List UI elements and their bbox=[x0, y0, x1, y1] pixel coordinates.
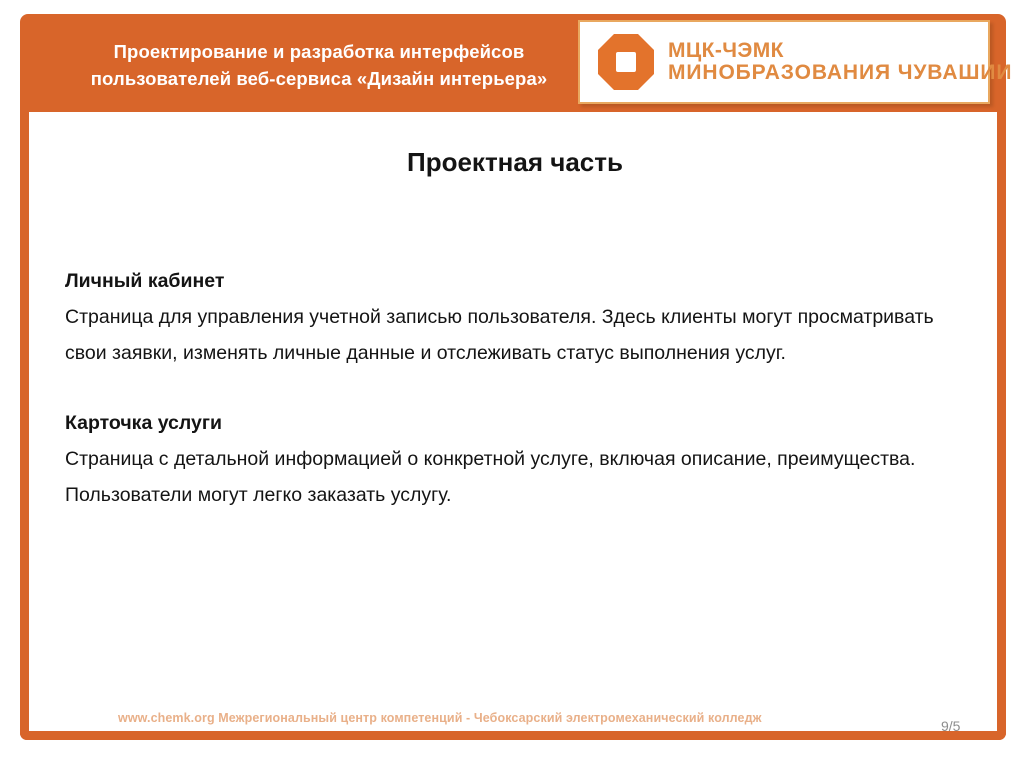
page-number: 9/5 bbox=[941, 718, 960, 734]
logo-line-2: МИНОБРАЗОВАНИЯ ЧУВАШИИ bbox=[668, 62, 1012, 84]
section-title: Личный кабинет bbox=[65, 263, 970, 299]
footer-credit: www.chemk.org Межрегиональный центр комп… bbox=[118, 711, 762, 725]
frame-right-rail bbox=[997, 30, 1006, 740]
section-personal-account: Личный кабинет Страница для управления у… bbox=[65, 263, 970, 371]
section-title: Карточка услуги bbox=[65, 405, 970, 441]
frame-bottom-rail bbox=[20, 731, 1006, 740]
logo-wordmark: МЦК-ЧЭМК МИНОБРАЗОВАНИЯ ЧУВАШИИ bbox=[668, 40, 1012, 85]
content-body: Личный кабинет Страница для управления у… bbox=[65, 263, 970, 513]
page-title: Проектная часть bbox=[65, 147, 965, 178]
section-service-card: Карточка услуги Страница с детальной инф… bbox=[65, 405, 970, 513]
header-title: Проектирование и разработка интерфейсов … bbox=[54, 38, 584, 92]
section-paragraph: Страница с детальной информацией о конкр… bbox=[65, 441, 970, 513]
logo-line-1: МЦК-ЧЭМК bbox=[668, 40, 1012, 62]
logo-card: МЦК-ЧЭМК МИНОБРАЗОВАНИЯ ЧУВАШИИ bbox=[578, 20, 990, 104]
octagon-logo-mark-icon bbox=[596, 32, 656, 92]
slide-canvas: Проектирование и разработка интерфейсов … bbox=[0, 0, 1024, 767]
section-paragraph: Страница для управления учетной записью … bbox=[65, 299, 970, 371]
frame-left-rail bbox=[20, 30, 29, 740]
